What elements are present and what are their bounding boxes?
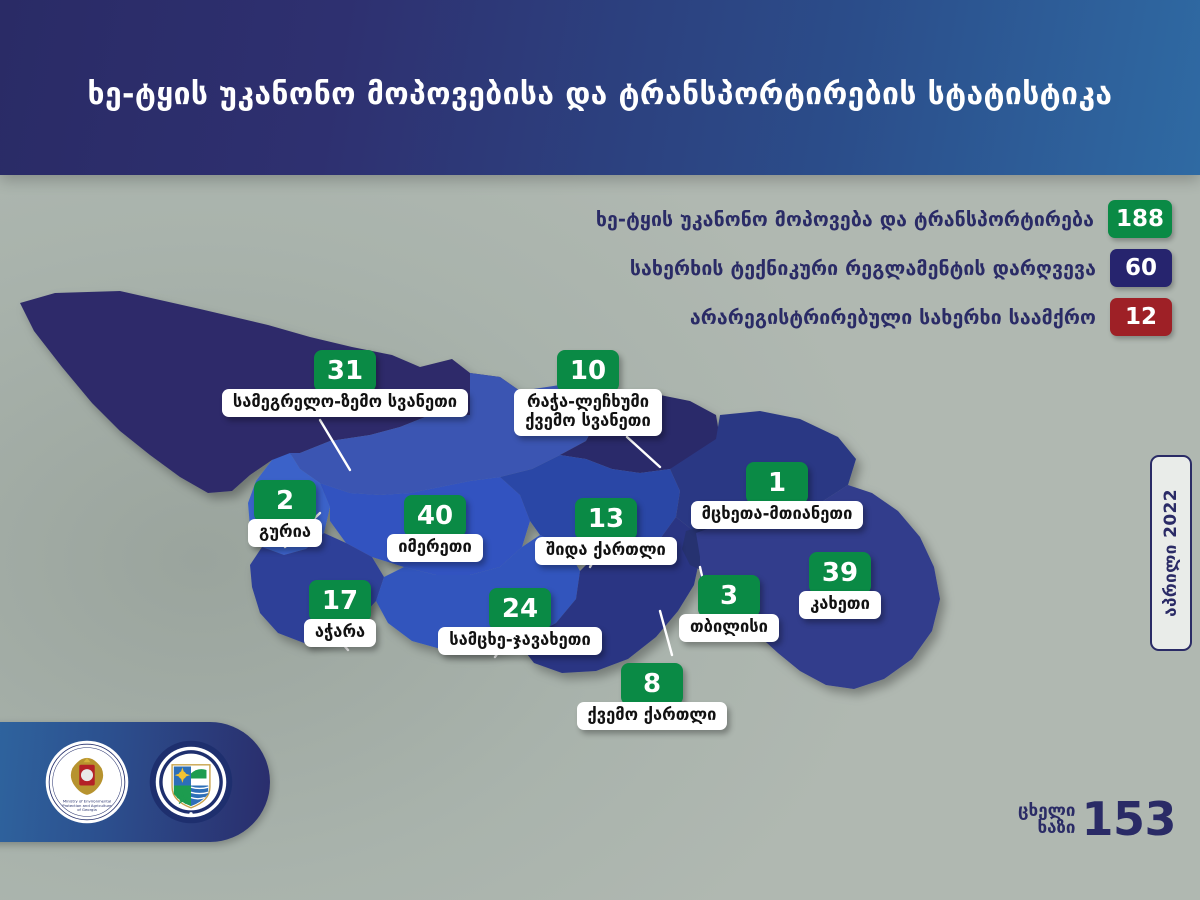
page-title: ხე-ტყის უკანონო მოპოვებისა და ტრანსპორტი…	[88, 66, 1113, 110]
hotline-words: ცხელი ხაზი	[1018, 803, 1076, 838]
logo-bar: Ministry of Environmental Protection and…	[0, 722, 270, 842]
region-name-label: იმერეთი	[387, 534, 483, 562]
month-tab-label: აპრილი 2022	[1161, 489, 1181, 617]
region-marker[interactable]: 40იმერეთი	[387, 495, 483, 562]
region-marker[interactable]: 8ქვემო ქართლი	[577, 663, 728, 730]
legend-item-label: ხე-ტყის უკანონო მოპოვება და ტრანსპორტირე…	[596, 208, 1094, 231]
header-banner: ხე-ტყის უკანონო მოპოვებისა და ტრანსპორტი…	[0, 0, 1200, 175]
legend-item: ხე-ტყის უკანონო მოპოვება და ტრანსპორტირე…	[452, 200, 1172, 238]
legend-item-value: 12	[1110, 298, 1172, 336]
region-marker[interactable]: 24სამცხე-ჯავახეთი	[438, 588, 602, 655]
region-marker[interactable]: 2გურია	[248, 480, 322, 547]
region-value-badge: 10	[557, 350, 619, 392]
month-tab: აპრილი 2022	[1150, 455, 1192, 651]
region-value-badge: 2	[254, 480, 316, 522]
hotline: ცხელი ხაზი 153	[1018, 798, 1176, 842]
region-name-label: რაჭა-ლეჩხუმი ქვემო სვანეთი	[514, 389, 662, 436]
hotline-number: 153	[1081, 798, 1176, 842]
region-name-label: გურია	[248, 519, 322, 547]
region-name-label: კახეთი	[799, 591, 881, 619]
region-value-badge: 24	[489, 588, 551, 630]
region-name-label: აჭარა	[304, 619, 376, 647]
georgia-region-map: 31სამეგრელო-ზემო სვანეთი10რაჭა-ლეჩხუმი ქ…	[0, 255, 1100, 795]
region-value-badge: 3	[698, 575, 760, 617]
svg-text:of Georgia: of Georgia	[77, 807, 97, 812]
hotline-line2: ხაზი	[1018, 820, 1076, 837]
region-value-badge: 31	[314, 350, 376, 392]
region-marker[interactable]: 39კახეთი	[799, 552, 881, 619]
region-value-badge: 39	[809, 552, 871, 594]
region-value-badge: 17	[309, 580, 371, 622]
region-marker[interactable]: 31სამეგრელო-ზემო სვანეთი	[222, 350, 468, 417]
region-name-label: სამცხე-ჯავახეთი	[438, 627, 602, 655]
region-name-label: სამეგრელო-ზემო სვანეთი	[222, 389, 468, 417]
infographic-canvas: ხე-ტყის უკანონო მოპოვებისა და ტრანსპორტი…	[0, 0, 1200, 900]
region-value-badge: 40	[404, 495, 466, 537]
region-name-label: მცხეთა-მთიანეთი	[691, 501, 864, 529]
region-name-label: შიდა ქართლი	[535, 537, 677, 565]
legend-item-value: 188	[1108, 200, 1172, 238]
region-value-badge: 8	[621, 663, 683, 705]
region-value-badge: 1	[746, 462, 808, 504]
region-marker[interactable]: 13შიდა ქართლი	[535, 498, 677, 565]
legend-item-value: 60	[1110, 249, 1172, 287]
region-name-label: ქვემო ქართლი	[577, 702, 728, 730]
department-of-environmental-supervision-seal	[148, 739, 234, 825]
region-marker[interactable]: 17აჭარა	[304, 580, 376, 647]
region-marker[interactable]: 10რაჭა-ლეჩხუმი ქვემო სვანეთი	[514, 350, 662, 436]
ministry-of-environmental-protection-and-agriculture-seal: Ministry of Environmental Protection and…	[44, 739, 130, 825]
region-name-label: თბილისი	[679, 614, 779, 642]
region-marker[interactable]: 1მცხეთა-მთიანეთი	[691, 462, 864, 529]
region-value-badge: 13	[575, 498, 637, 540]
region-marker[interactable]: 3თბილისი	[679, 575, 779, 642]
